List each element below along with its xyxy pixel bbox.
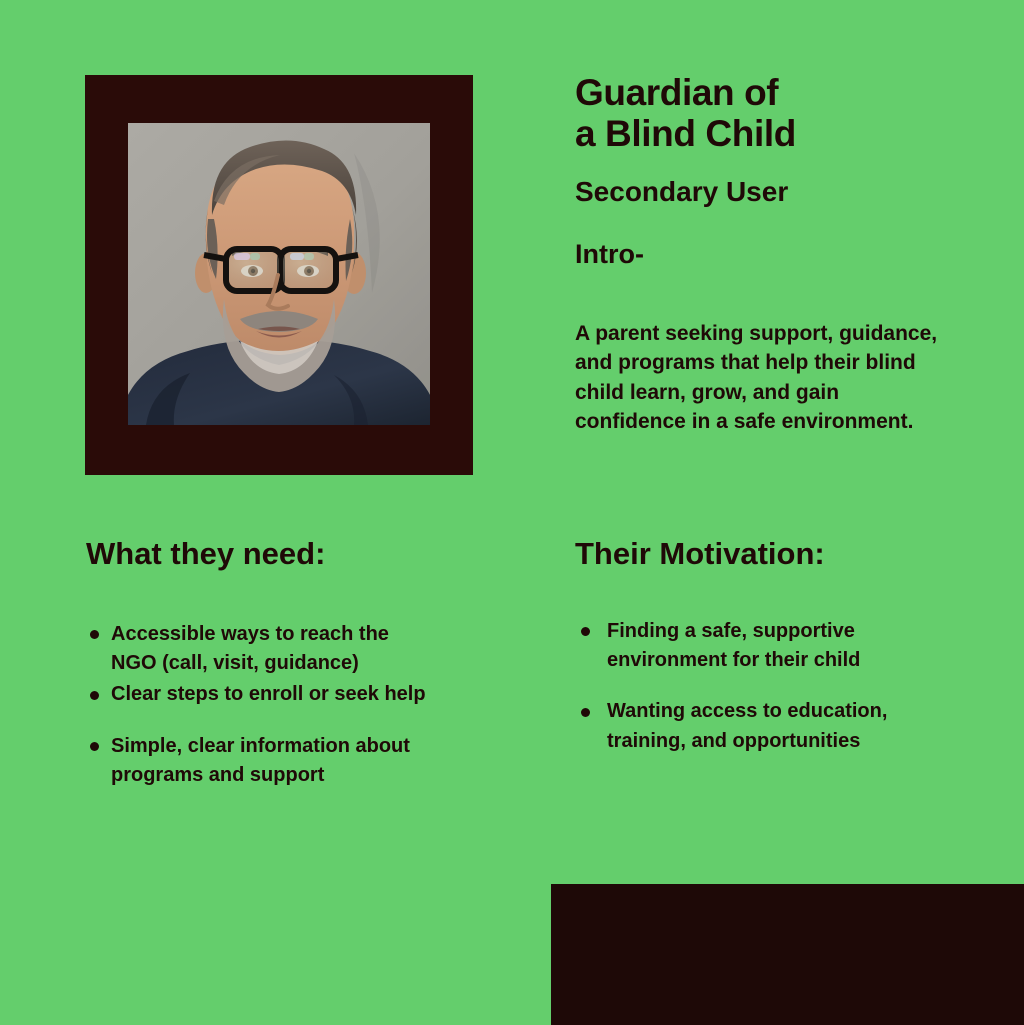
bullet-dot-icon — [90, 630, 99, 639]
persona-card: Guardian of a Blind Child Secondary User… — [0, 0, 1024, 1025]
list-item: Clear steps to enroll or seek help — [86, 680, 426, 709]
needs-heading: What they need: — [86, 535, 325, 572]
bullet-dot-icon — [90, 691, 99, 700]
needs-list: Accessible ways to reach the NGO (call, … — [86, 620, 426, 790]
intro-label: Intro- — [575, 238, 1015, 270]
list-item: Wanting access to education, training, a… — [575, 697, 905, 755]
list-item: Finding a safe, supportive environment f… — [575, 617, 905, 675]
intro-body: A parent seeking support, guidance, and … — [575, 319, 945, 437]
corner-accent-block — [551, 884, 1024, 1025]
persona-subtitle: Secondary User — [575, 175, 1015, 209]
list-item-label: Accessible ways to reach the NGO (call, … — [111, 623, 389, 674]
list-item: Simple, clear information about programs… — [86, 732, 426, 790]
persona-title: Guardian of a Blind Child — [575, 72, 1015, 155]
bullet-dot-icon — [581, 627, 590, 636]
persona-title-line2: a Blind Child — [575, 113, 1015, 154]
list-item-label: Wanting access to education, training, a… — [607, 700, 887, 751]
bullet-dot-icon — [581, 708, 590, 717]
list-item: Accessible ways to reach the NGO (call, … — [86, 620, 426, 678]
bullet-dot-icon — [90, 742, 99, 751]
motivation-list: Finding a safe, supportive environment f… — [575, 617, 905, 756]
persona-title-line1: Guardian of — [575, 72, 1015, 113]
list-item-label: Clear steps to enroll or seek help — [111, 683, 426, 705]
list-item-label: Simple, clear information about programs… — [111, 735, 410, 786]
motivation-heading: Their Motivation: — [575, 535, 825, 572]
portrait-frame — [85, 75, 473, 475]
list-item-label: Finding a safe, supportive environment f… — [607, 620, 860, 671]
portrait-photo — [128, 123, 430, 425]
